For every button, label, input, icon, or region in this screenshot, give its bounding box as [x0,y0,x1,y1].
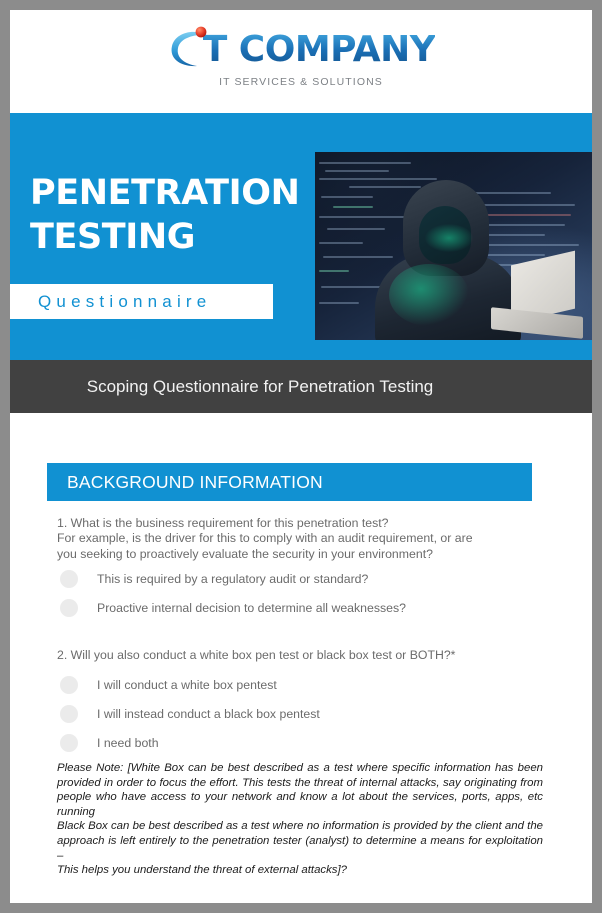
radio-option-row[interactable]: I will instead conduct a black box pente… [57,699,543,728]
logo-tagline: IT SERVICES & SOLUTIONS [10,76,592,88]
note-paragraph-3: This helps you understand the threat of … [57,863,543,878]
question-2: 2. Will you also conduct a white box pen… [57,648,543,663]
question-1: 1. What is the business requirement for … [57,516,543,562]
radio-button-icon[interactable] [60,734,78,752]
radio-option-label: I will conduct a white box pentest [97,678,277,692]
hero-photo-hacker [315,152,592,340]
radio-option-label: I need both [97,736,159,750]
radio-button-icon[interactable] [60,676,78,694]
swoosh-c-logo-icon [167,26,213,70]
radio-button-icon[interactable] [60,705,78,723]
radio-option-row[interactable]: I need both [57,728,543,757]
section-header-background-information: BACKGROUND INFORMATION [47,463,532,501]
radio-option-row[interactable]: I will conduct a white box pentest [57,670,543,699]
scoping-banner: Scoping Questionnaire for Penetration Te… [10,360,592,413]
document-page: T COMPANY IT SERVICES & SOLUTIONS PENETR… [10,10,592,903]
hero-title-line-1: PENETRATION [30,171,330,215]
company-logo: T COMPANY IT SERVICES & SOLUTIONS [10,26,592,88]
hero-title-line-2: TESTING [30,215,330,259]
hero-title: PENETRATION TESTING [30,171,330,259]
note-paragraph-1: Please Note: [White Box can be best desc… [57,761,543,819]
radio-option-label: This is required by a regulatory audit o… [97,572,368,586]
hero-band: PENETRATION TESTING Questionnaire [10,113,592,360]
radio-button-icon[interactable] [60,599,78,617]
question-1-line-2: For example, is the driver for this to c… [57,531,543,546]
scoping-banner-text: Scoping Questionnaire for Penetration Te… [10,377,592,397]
radio-button-icon[interactable] [60,570,78,588]
question-1-options: This is required by a regulatory audit o… [57,564,543,622]
radio-option-label: Proactive internal decision to determine… [97,601,406,615]
question-2-line-1: 2. Will you also conduct a white box pen… [57,648,543,663]
radio-option-row[interactable]: This is required by a regulatory audit o… [57,564,543,593]
radio-option-label: I will instead conduct a black box pente… [97,707,320,721]
radio-option-row[interactable]: Proactive internal decision to determine… [57,593,543,622]
question-1-line-3: you seeking to proactively evaluate the … [57,547,543,562]
hero-subtitle: Questionnaire [38,292,211,312]
section-title: BACKGROUND INFORMATION [67,472,323,493]
document-header: T COMPANY IT SERVICES & SOLUTIONS [10,10,592,113]
question-2-options: I will conduct a white box pentest I wil… [57,670,543,757]
please-note-block: Please Note: [White Box can be best desc… [57,761,543,878]
note-paragraph-2: Black Box can be best described as a tes… [57,819,543,863]
question-1-line-1: 1. What is the business requirement for … [57,516,543,531]
hero-subtitle-box: Questionnaire [10,284,273,319]
logo-wordmark: T COMPANY [203,26,436,70]
